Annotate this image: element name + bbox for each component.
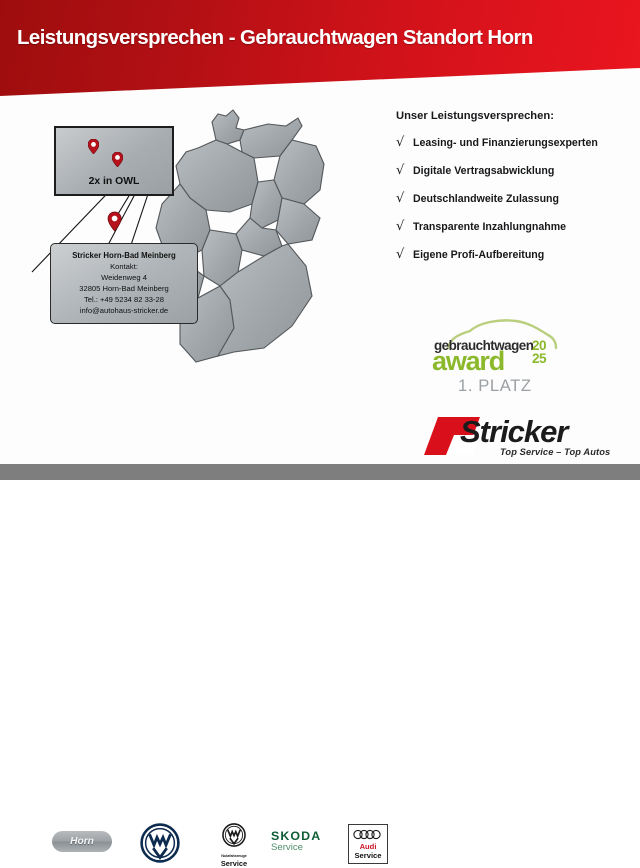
award-line2: award [432, 348, 504, 375]
promise-item: √ Digitale Vertragsabwicklung [396, 164, 628, 179]
promise-heading: Unser Leistungsversprechen: [396, 110, 628, 122]
contact-kontakt-label: Kontakt: [55, 261, 193, 272]
map-pin-icon [88, 139, 99, 154]
contact-callout-box: Stricker Horn-Bad Meinberg Kontakt: Weid… [50, 243, 198, 324]
promise-item: √ Transparente Inzahlungnahme [396, 220, 628, 235]
promise-item-label: Deutschlandweite Zulassung [413, 192, 559, 206]
vw-nutzfahrzeuge-logo: Nutzfahrzeuge Service [205, 823, 263, 868]
vw-nutzfahrzeuge-sub2: Service [205, 859, 263, 868]
promise-item-label: Eigene Profi-Aufbereitung [413, 248, 544, 262]
contact-email: info@autohaus-stricker.de [55, 305, 193, 316]
vw-nutzfahrzeuge-sub1: Nutzfahrzeuge [205, 853, 263, 858]
stricker-tagline: Top Service – Top Autos [500, 447, 610, 457]
footer-bar [0, 464, 640, 480]
skoda-name: SKODA [271, 829, 321, 843]
check-icon: √ [396, 136, 413, 151]
vw-logo-icon [140, 823, 180, 863]
map-pin-horn [108, 212, 121, 231]
promise-item: √ Deutschlandweite Zulassung [396, 192, 628, 207]
skoda-sub: Service [271, 842, 321, 853]
slide-canvas: Leistungsversprechen - Gebrauchtwagen St… [0, 0, 640, 480]
map-pin-icon [112, 152, 123, 167]
audi-rings-icon [353, 829, 383, 840]
audi-logo: Audi Service [348, 824, 388, 864]
promise-item: √ Eigene Profi-Aufbereitung [396, 248, 628, 263]
horn-logo: Horn [52, 831, 112, 852]
promise-list: Unser Leistungsversprechen: √ Leasing- u… [396, 110, 628, 276]
check-icon: √ [396, 164, 413, 179]
check-icon: √ [396, 248, 413, 263]
award-year: 20 25 [532, 340, 546, 365]
check-icon: √ [396, 220, 413, 235]
contact-street: Weidenweg 4 [55, 272, 193, 283]
vw-logo-icon [222, 823, 246, 847]
promise-item-label: Transparente Inzahlungnahme [413, 220, 566, 234]
audi-sub: Service [354, 851, 381, 860]
owl-callout-box: 2x in OWL [54, 126, 174, 196]
promise-item-label: Digitale Vertragsabwicklung [413, 164, 554, 178]
award-rank: 1. PLATZ [458, 376, 532, 396]
promise-item-label: Leasing- und Finanzierungsexperten [413, 136, 598, 150]
contact-phone: Tel.: +49 5234 82 33-28 [55, 294, 193, 305]
award-badge: gebrauchtwagen award 20 25 1. PLATZ [428, 318, 576, 396]
check-icon: √ [396, 192, 413, 207]
skoda-logo: SKODA Service [271, 829, 321, 853]
award-year-bottom: 25 [532, 353, 546, 366]
contact-city: 32805 Horn-Bad Meinberg [55, 283, 193, 294]
owl-callout-label: 2x in OWL [56, 176, 172, 187]
stricker-name: Stricker [460, 414, 567, 450]
stricker-logo: Stricker Top Service – Top Autos [424, 411, 624, 463]
contact-name: Stricker Horn-Bad Meinberg [55, 250, 193, 261]
audi-name: Audi [360, 842, 377, 851]
promise-item: √ Leasing- und Finanzierungsexperten [396, 136, 628, 151]
page-title: Leistungsversprechen - Gebrauchtwagen St… [17, 27, 629, 50]
